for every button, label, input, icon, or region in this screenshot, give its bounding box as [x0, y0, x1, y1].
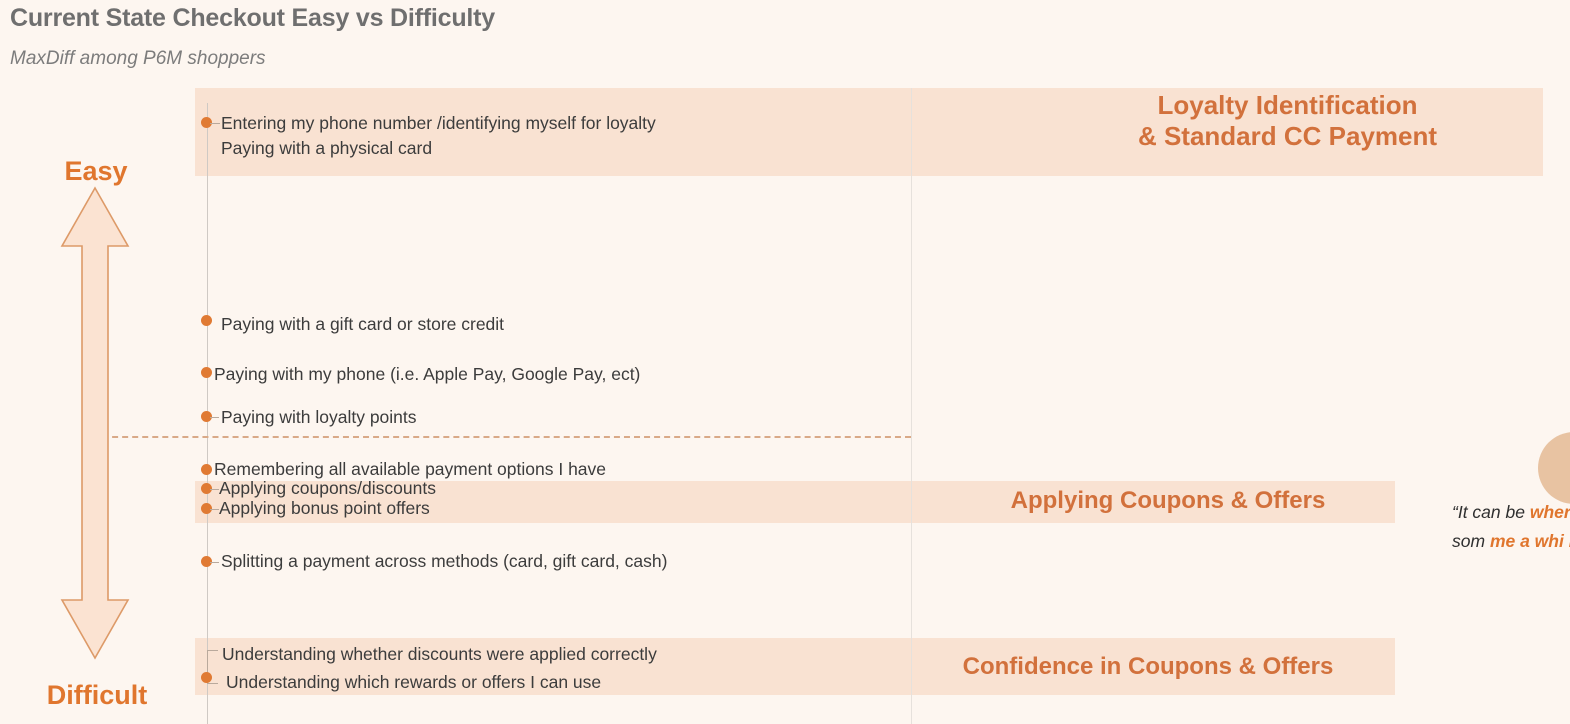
chart-plot-area: Loyalty Identification & Standard CC Pay…: [0, 0, 1570, 724]
item-label: Paying with a physical card: [221, 138, 432, 159]
item-label: Paying with loyalty points: [221, 407, 417, 428]
scale-top-label: Easy: [32, 156, 160, 187]
midpoint-divider: [82, 436, 911, 438]
item-label: Splitting a payment across methods (card…: [221, 551, 667, 572]
leader-line: [210, 562, 219, 563]
data-point-dot: [201, 464, 212, 475]
band-label-loyalty-line1: Loyalty Identification: [1040, 90, 1535, 121]
item-label: Remembering all available payment option…: [214, 459, 606, 480]
item-label: Paying with a gift card or store credit: [221, 314, 504, 335]
band-label-loyalty: Loyalty Identification & Standard CC Pay…: [1040, 90, 1535, 151]
item-label: Paying with my phone (i.e. Apple Pay, Go…: [214, 364, 640, 385]
leader-line: [210, 509, 219, 510]
leader-line: [210, 417, 219, 418]
band-label-applying-coupons: Applying Coupons & Offers: [940, 487, 1396, 515]
item-label: Understanding which rewards or offers I …: [226, 672, 601, 693]
double-headed-vertical-arrow-icon: [60, 186, 130, 660]
item-label: Understanding whether discounts were app…: [222, 644, 657, 665]
item-label: Applying coupons/discounts: [219, 478, 436, 499]
leader-line: [210, 123, 220, 124]
data-point-dot: [201, 672, 212, 683]
quote-part-2: where I n: [1530, 502, 1570, 522]
data-point-dot: [201, 367, 212, 378]
item-label: Entering my phone number /identifying my…: [221, 113, 656, 134]
scale-bottom-label: Difficult: [14, 680, 180, 711]
leader-line: [210, 489, 219, 490]
band-label-loyalty-line2: & Standard CC Payment: [1040, 121, 1535, 152]
band-label-confidence-coupons: Confidence in Coupons & Offers: [900, 653, 1396, 681]
quote-part-1: “It can be: [1452, 502, 1525, 522]
customer-quote: “It can be where I n app. som me a whi r…: [1452, 498, 1570, 556]
vertical-grid-line: [911, 88, 912, 724]
data-point-dot: [201, 315, 212, 326]
quote-part-5: me a whi: [1490, 531, 1564, 551]
item-label: Applying bonus point offers: [219, 498, 430, 519]
